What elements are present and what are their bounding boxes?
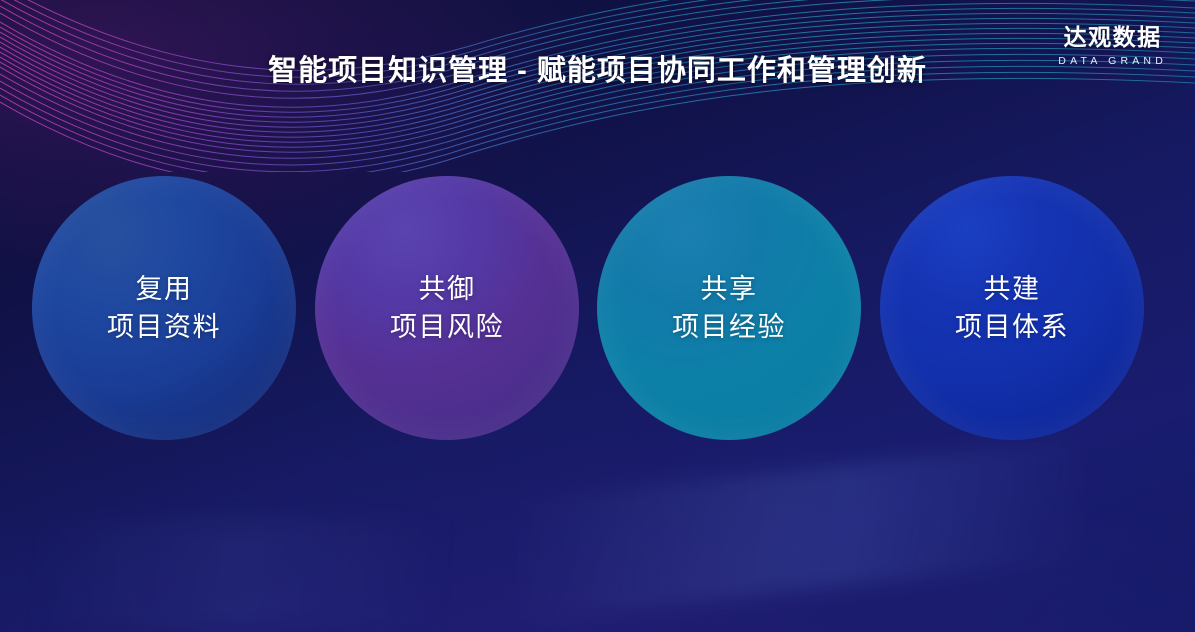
concept-circle-group: 复用 项目资料 共御 项目风险 共享 项目经验 共建 项目体系 — [0, 176, 1195, 440]
concept-circle-reuse-line2: 项目资料 — [107, 308, 221, 346]
brand-logo-en: DATA GRAND — [1058, 56, 1167, 67]
light-streak-secondary — [30, 520, 450, 630]
brand-logo: 达观数据 DATA GRAND — [1058, 26, 1167, 67]
concept-circle-build-line2: 项目体系 — [955, 308, 1069, 346]
concept-circle-reuse-line1: 复用 — [136, 270, 193, 308]
concept-circle-reuse[interactable]: 复用 项目资料 — [32, 176, 296, 440]
page-title: 智能项目知识管理 - 赋能项目协同工作和管理创新 — [0, 47, 1195, 89]
slide-canvas: 智能项目知识管理 - 赋能项目协同工作和管理创新 达观数据 DATA GRAND… — [0, 0, 1195, 632]
concept-circle-share-line2: 项目经验 — [672, 308, 786, 346]
concept-circle-defend-line1: 共御 — [419, 270, 476, 308]
concept-circle-defend-line2: 项目风险 — [390, 308, 504, 346]
concept-circle-share-line1: 共享 — [701, 270, 758, 308]
brand-logo-cn: 达观数据 — [1058, 26, 1167, 49]
concept-circle-defend[interactable]: 共御 项目风险 — [315, 176, 579, 440]
concept-circle-build[interactable]: 共建 项目体系 — [880, 176, 1144, 440]
light-streak — [515, 441, 1084, 619]
concept-circle-build-line1: 共建 — [984, 270, 1041, 308]
concept-circle-share[interactable]: 共享 项目经验 — [597, 176, 861, 440]
